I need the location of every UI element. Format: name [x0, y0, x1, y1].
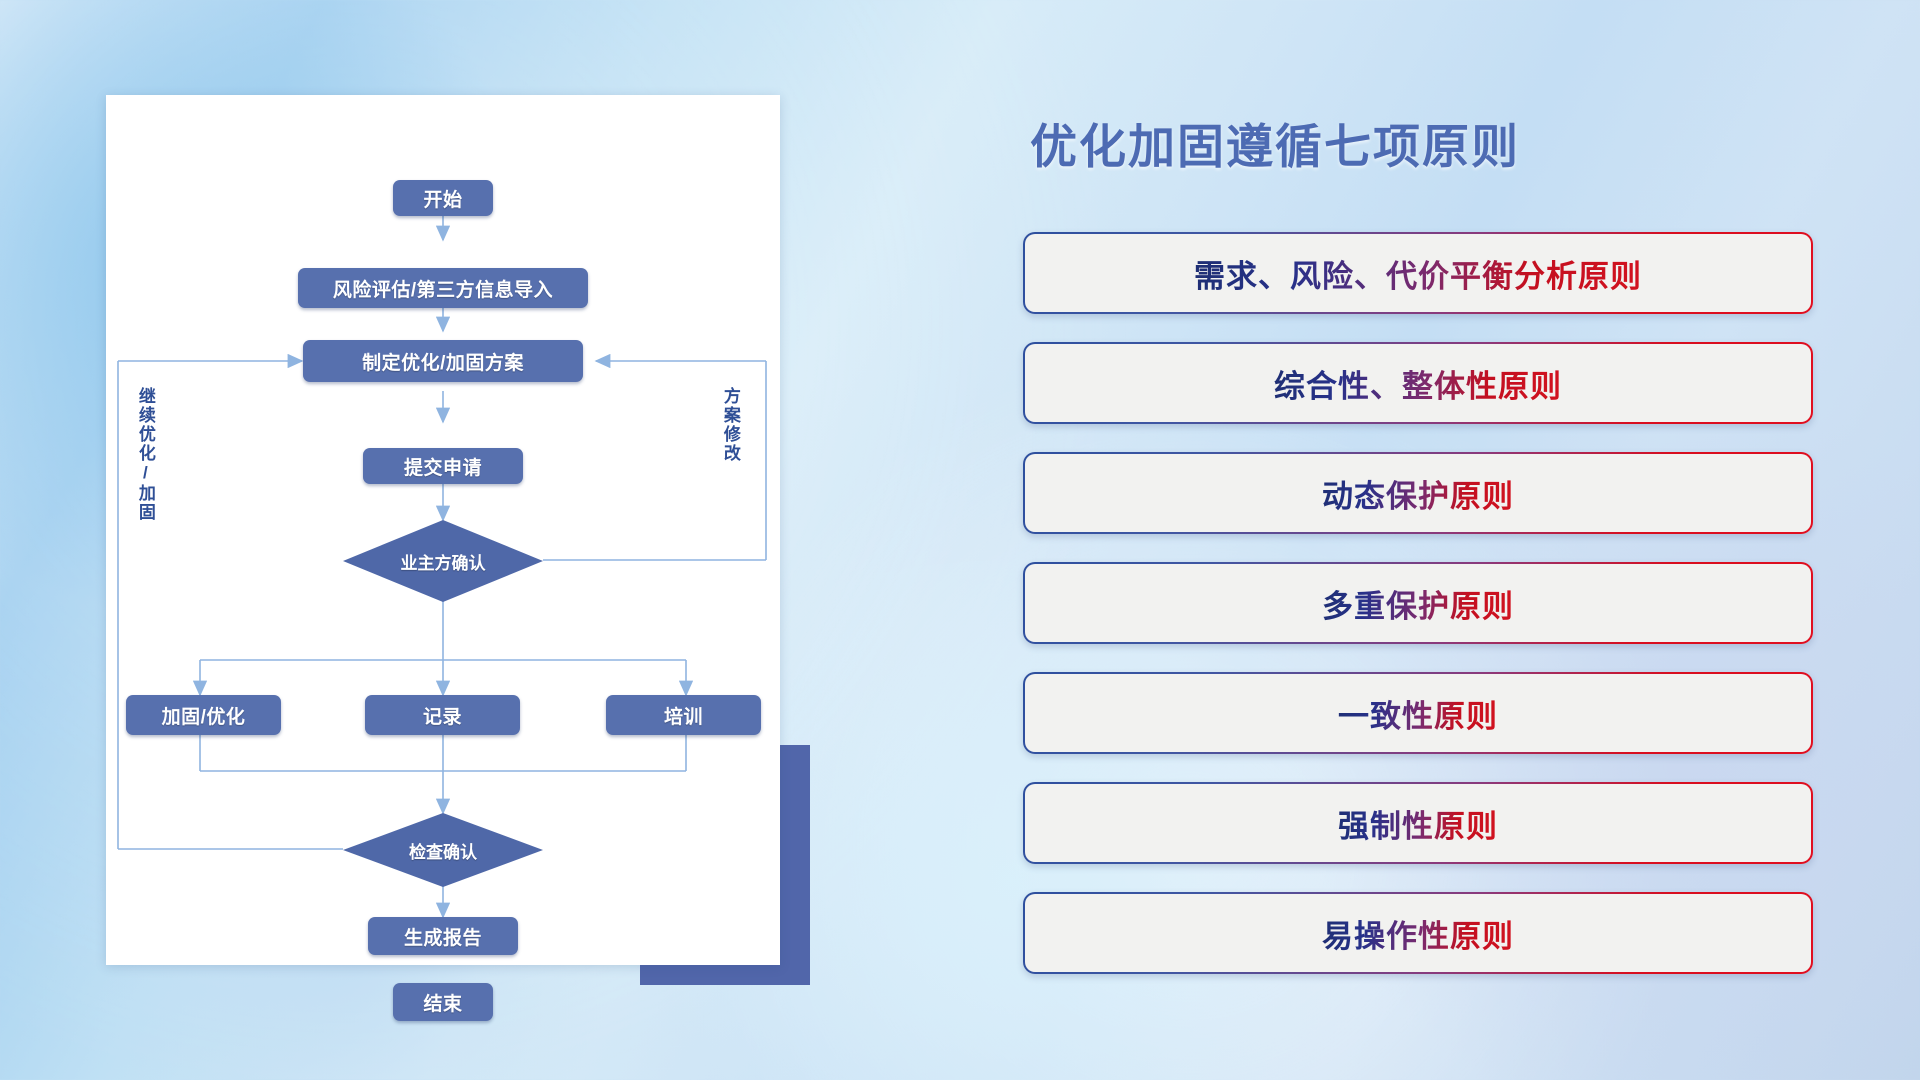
slide-title: 优化加固遵循七项原则: [1030, 108, 1730, 177]
flow-node-label: 制定优化/加固方案: [362, 348, 524, 375]
principle-label: 综合性、整体性原则: [1274, 361, 1562, 406]
principle-card-4[interactable]: 多重保护原则: [1023, 562, 1813, 644]
flowchart-card: 开始 风险评估/第三方信息导入 制定优化/加固方案 提交申请 业主方确认 加固/…: [106, 95, 780, 965]
flow-node-label: 业主方确认: [401, 549, 486, 574]
flow-node-label: 检查确认: [409, 838, 477, 863]
principle-card-inner: 一致性原则: [1025, 674, 1811, 752]
flow-node-label: 风险评估/第三方信息导入: [333, 275, 553, 302]
principle-label: 动态保护原则: [1322, 471, 1514, 516]
flow-node-generate-report[interactable]: 生成报告: [368, 917, 518, 955]
principle-card-3[interactable]: 动态保护原则: [1023, 452, 1813, 534]
principle-card-2[interactable]: 综合性、整体性原则: [1023, 342, 1813, 424]
principle-card-6[interactable]: 强制性原则: [1023, 782, 1813, 864]
flow-edge-label-continue-optimize: 继续优化/加固: [136, 387, 154, 522]
principle-label: 需求、风险、代价平衡分析原则: [1194, 251, 1642, 296]
principle-card-inner: 多重保护原则: [1025, 564, 1811, 642]
principle-label: 易操作性原则: [1322, 911, 1514, 956]
principle-label: 一致性原则: [1338, 691, 1498, 736]
principle-card-inner: 易操作性原则: [1025, 894, 1811, 972]
principle-card-inner: 动态保护原则: [1025, 454, 1811, 532]
flow-node-risk-assessment[interactable]: 风险评估/第三方信息导入: [298, 268, 588, 308]
flow-node-label: 培训: [664, 702, 703, 729]
flow-node-label: 开始: [423, 185, 462, 212]
flow-node-label: 提交申请: [404, 453, 482, 480]
principle-card-inner: 需求、风险、代价平衡分析原则: [1025, 234, 1811, 312]
flow-node-record[interactable]: 记录: [365, 695, 520, 735]
flow-node-label: 加固/优化: [162, 702, 246, 729]
principles-list: 需求、风险、代价平衡分析原则 综合性、整体性原则 动态保护原则 多重保护原则 一…: [1023, 232, 1813, 1002]
principle-label: 强制性原则: [1338, 801, 1498, 846]
flow-node-submit-application[interactable]: 提交申请: [363, 448, 523, 484]
flow-node-label: 生成报告: [404, 923, 482, 950]
flow-node-reinforce[interactable]: 加固/优化: [126, 695, 281, 735]
principle-card-7[interactable]: 易操作性原则: [1023, 892, 1813, 974]
flow-node-end[interactable]: 结束: [393, 983, 493, 1021]
flow-node-start[interactable]: 开始: [393, 180, 493, 216]
flow-node-plan[interactable]: 制定优化/加固方案: [303, 340, 583, 382]
principle-card-inner: 强制性原则: [1025, 784, 1811, 862]
flow-node-label: 记录: [423, 702, 462, 729]
flow-node-label: 结束: [423, 989, 462, 1016]
flow-node-training[interactable]: 培训: [606, 695, 761, 735]
principle-card-inner: 综合性、整体性原则: [1025, 344, 1811, 422]
principle-card-1[interactable]: 需求、风险、代价平衡分析原则: [1023, 232, 1813, 314]
flowchart: 开始 风险评估/第三方信息导入 制定优化/加固方案 提交申请 业主方确认 加固/…: [106, 95, 780, 965]
principle-label: 多重保护原则: [1322, 581, 1514, 626]
principle-card-5[interactable]: 一致性原则: [1023, 672, 1813, 754]
flow-edge-label-plan-revision: 方案修改: [721, 387, 739, 463]
